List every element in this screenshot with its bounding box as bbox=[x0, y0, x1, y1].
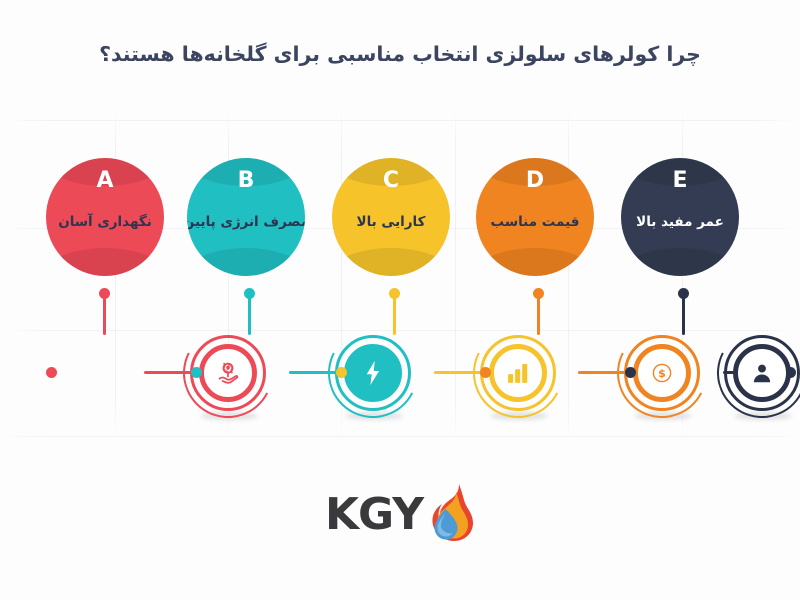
user-person-icon bbox=[745, 356, 779, 390]
bubble-letter: B bbox=[187, 168, 305, 193]
infographic-canvas: چرا کولرهای سلولزی انتخاب مناسبی برای گل… bbox=[0, 0, 800, 600]
icon-connector-row: $ bbox=[0, 300, 800, 425]
bubble-highlight-bottom bbox=[332, 248, 450, 276]
stem-line bbox=[682, 297, 685, 335]
stem-dot bbox=[533, 288, 544, 299]
arc-end-dot bbox=[480, 367, 491, 378]
icon-node-e[interactable] bbox=[724, 335, 800, 411]
arc-end-dot bbox=[336, 367, 347, 378]
stem-dot bbox=[99, 288, 110, 299]
bubble-label: عمر مفید بالا bbox=[621, 214, 739, 230]
brand-logo: KGY bbox=[0, 482, 800, 548]
bubble-highlight-bottom bbox=[46, 248, 164, 276]
bubble-letter: E bbox=[621, 168, 739, 193]
bubble-c[interactable]: C کارایی بالا bbox=[332, 158, 450, 276]
bar-chart-icon bbox=[501, 356, 535, 390]
bubble-highlight-bottom bbox=[621, 248, 739, 276]
dollar-coin-icon: $ bbox=[645, 356, 679, 390]
bubble-letter: C bbox=[332, 168, 450, 193]
bubble-label: مصرف انرژی پایین bbox=[187, 214, 305, 230]
stem-line bbox=[393, 297, 396, 335]
stem-line bbox=[248, 297, 251, 335]
bubble-row: A نگهداری آسان B مصرف انرژی پایین C کارا… bbox=[0, 150, 800, 290]
bubble-letter: D bbox=[476, 168, 594, 193]
arc-end-dot bbox=[625, 367, 636, 378]
bubble-highlight-bottom bbox=[187, 248, 305, 276]
grid-line-horizontal bbox=[0, 436, 800, 437]
bubble-label: قیمت مناسب bbox=[476, 214, 594, 230]
bubble-a[interactable]: A نگهداری آسان bbox=[46, 158, 164, 276]
page-title: چرا کولرهای سلولزی انتخاب مناسبی برای گل… bbox=[0, 40, 800, 70]
bubble-label: نگهداری آسان bbox=[46, 214, 164, 230]
stem-line bbox=[537, 297, 540, 335]
bubble-letter: A bbox=[46, 168, 164, 193]
stem-dot bbox=[389, 288, 400, 299]
svg-text:$: $ bbox=[658, 367, 666, 380]
bubble-b[interactable]: B مصرف انرژی پایین bbox=[187, 158, 305, 276]
bubble-e[interactable]: E عمر مفید بالا bbox=[621, 158, 739, 276]
stem-line bbox=[103, 297, 106, 335]
logo-wordmark: KGY bbox=[325, 493, 423, 537]
bubble-d[interactable]: D قیمت مناسب bbox=[476, 158, 594, 276]
grid-line-horizontal bbox=[0, 120, 800, 121]
arc-end-dot bbox=[191, 367, 202, 378]
lightning-bolt-icon bbox=[356, 356, 390, 390]
bubble-label: کارایی بالا bbox=[332, 214, 450, 230]
arc-end-dot bbox=[46, 367, 57, 378]
flame-waterdrop-icon bbox=[429, 482, 475, 548]
stem-dot bbox=[678, 288, 689, 299]
stem-dot bbox=[244, 288, 255, 299]
hand-holding-flower-icon bbox=[211, 356, 245, 390]
bubble-highlight-bottom bbox=[476, 248, 594, 276]
